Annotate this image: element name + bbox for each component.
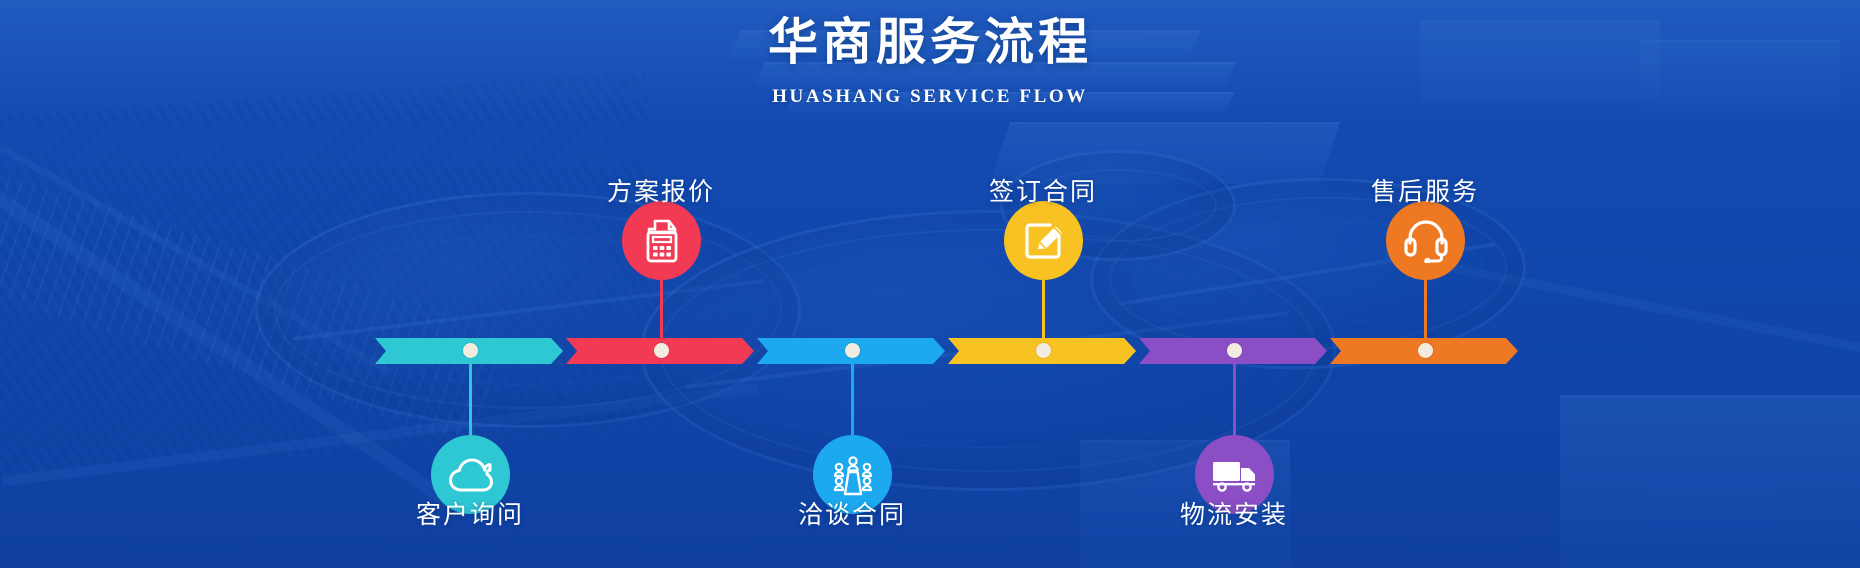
connector-stem-1 [469,363,472,435]
banner-header: 华商服务流程 HUASHANG SERVICE FLOW [0,14,1860,108]
flow-label-4: 签订合同 [989,172,1097,208]
flow-icon-bubble-4[interactable] [1004,201,1083,280]
connector-stem-2 [660,280,663,340]
page-title: 华商服务流程 [0,14,1860,72]
flow-label-2: 方案报价 [607,172,715,208]
flow-node-dot-6[interactable] [1418,343,1433,358]
flow-label-3: 洽谈合同 [798,495,906,531]
connector-stem-4 [1042,280,1045,340]
connector-stem-5 [1233,363,1236,435]
flow-label-6: 售后服务 [1371,172,1479,208]
flow-node-dot-1[interactable] [463,343,478,358]
service-flow-banner: 华商服务流程 HUASHANG SERVICE FLOW [0,0,1860,568]
flow-node-dot-2[interactable] [654,343,669,358]
flow-node-dot-3[interactable] [845,343,860,358]
truck-icon [1211,458,1259,492]
flow-icon-bubble-2[interactable] [622,201,701,280]
sign-contract-icon [1021,218,1067,264]
page-subtitle: HUASHANG SERVICE FLOW [0,86,1860,108]
cloud-icon [449,456,493,494]
flow-label-5: 物流安装 [1180,495,1288,531]
flow-icon-bubble-6[interactable] [1386,201,1465,280]
connector-stem-6 [1424,280,1427,340]
flow-label-1: 客户询问 [416,495,524,531]
flow-node-dot-4[interactable] [1036,343,1051,358]
connector-stem-3 [851,363,854,435]
calculator-icon [642,218,682,264]
flow-node-dot-5[interactable] [1227,343,1242,358]
headset-icon [1403,219,1449,263]
meeting-icon [830,453,876,497]
